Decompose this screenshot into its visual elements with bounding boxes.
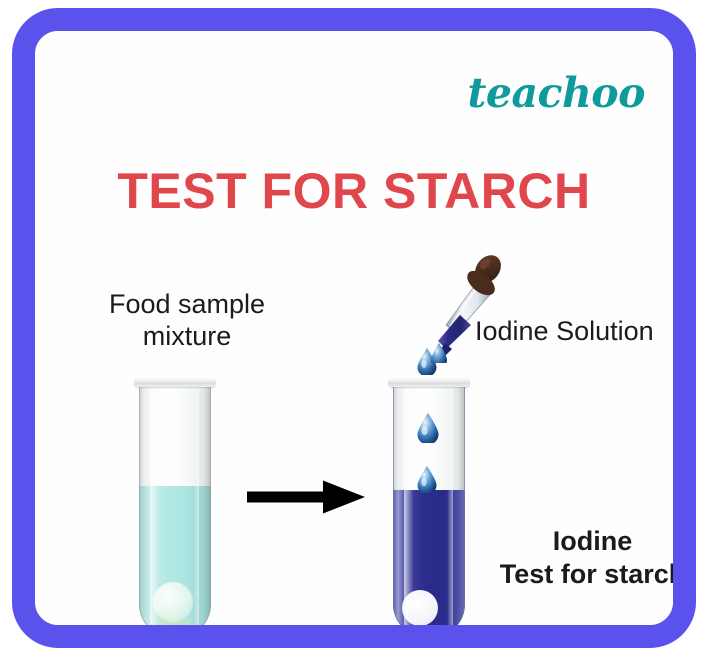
reaction-arrow-icon <box>247 479 365 515</box>
left-tube-glass <box>139 383 211 625</box>
iodine-dropper-icon <box>425 253 509 363</box>
iodine-test-result-label: Iodine Test for starch <box>460 525 673 591</box>
left-tube-rim <box>134 376 216 387</box>
left-tube-liquid <box>139 486 211 625</box>
left-test-tube <box>139 376 211 625</box>
food-sample-label: Food sample mixture <box>67 289 307 353</box>
iodine-droplet-in-tube-1-icon <box>417 413 439 443</box>
figure-canvas: teachoo TEST FOR STARCH Food sample mixt… <box>35 31 673 625</box>
starch-test-figure: teachoo TEST FOR STARCH Food sample mixt… <box>0 0 720 665</box>
figure-title: TEST FOR STARCH <box>35 166 673 216</box>
left-tube-highlight <box>153 582 193 622</box>
iodine-droplet-in-tube-2-icon <box>417 466 437 493</box>
right-tube-highlight <box>402 590 438 625</box>
teachoo-logo: teachoo <box>467 73 645 114</box>
right-tube-liquid <box>393 490 465 625</box>
right-tube-rim <box>388 376 470 387</box>
